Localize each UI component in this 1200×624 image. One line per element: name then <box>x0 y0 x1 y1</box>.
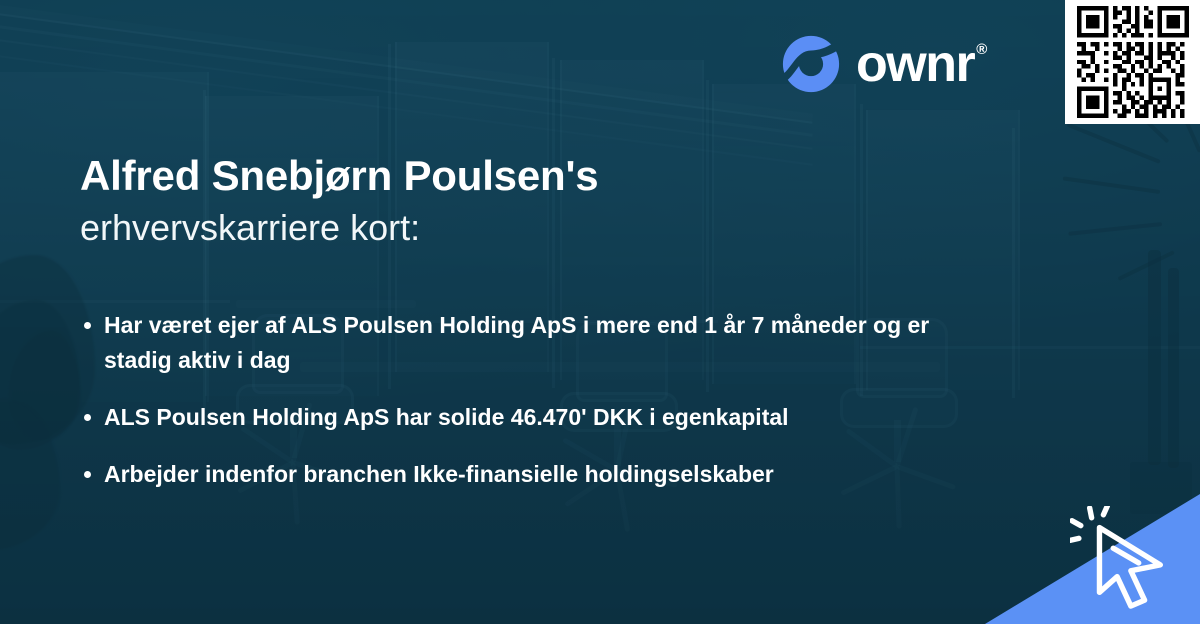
cta-corner[interactable] <box>985 494 1200 624</box>
ownr-wordmark-text: ownr <box>856 38 974 90</box>
headline-line-2: erhvervskarriere kort: <box>80 207 900 248</box>
qr-code-panel[interactable] <box>1065 0 1200 124</box>
career-fact-list: Har været ejer af ALS Poulsen Holding Ap… <box>80 308 980 514</box>
list-item: ALS Poulsen Holding ApS har solide 46.47… <box>80 400 980 435</box>
list-item: Arbejder indenfor branchen Ikke-finansie… <box>80 457 980 492</box>
ownr-logo[interactable]: ownr ® <box>780 33 986 95</box>
registered-trademark-icon: ® <box>976 42 986 57</box>
page-title: Alfred Snebjørn Poulsen's erhvervskarrie… <box>80 152 900 248</box>
headline-line-1: Alfred Snebjørn Poulsen's <box>80 152 900 199</box>
ownr-circle-logo-icon <box>780 33 842 95</box>
promo-card: ownr ® <box>0 0 1200 624</box>
click-cursor-icon <box>1070 506 1178 610</box>
qr-code-icon <box>1077 6 1189 118</box>
list-item: Har været ejer af ALS Poulsen Holding Ap… <box>80 308 980 378</box>
ownr-wordmark: ownr ® <box>856 38 986 90</box>
